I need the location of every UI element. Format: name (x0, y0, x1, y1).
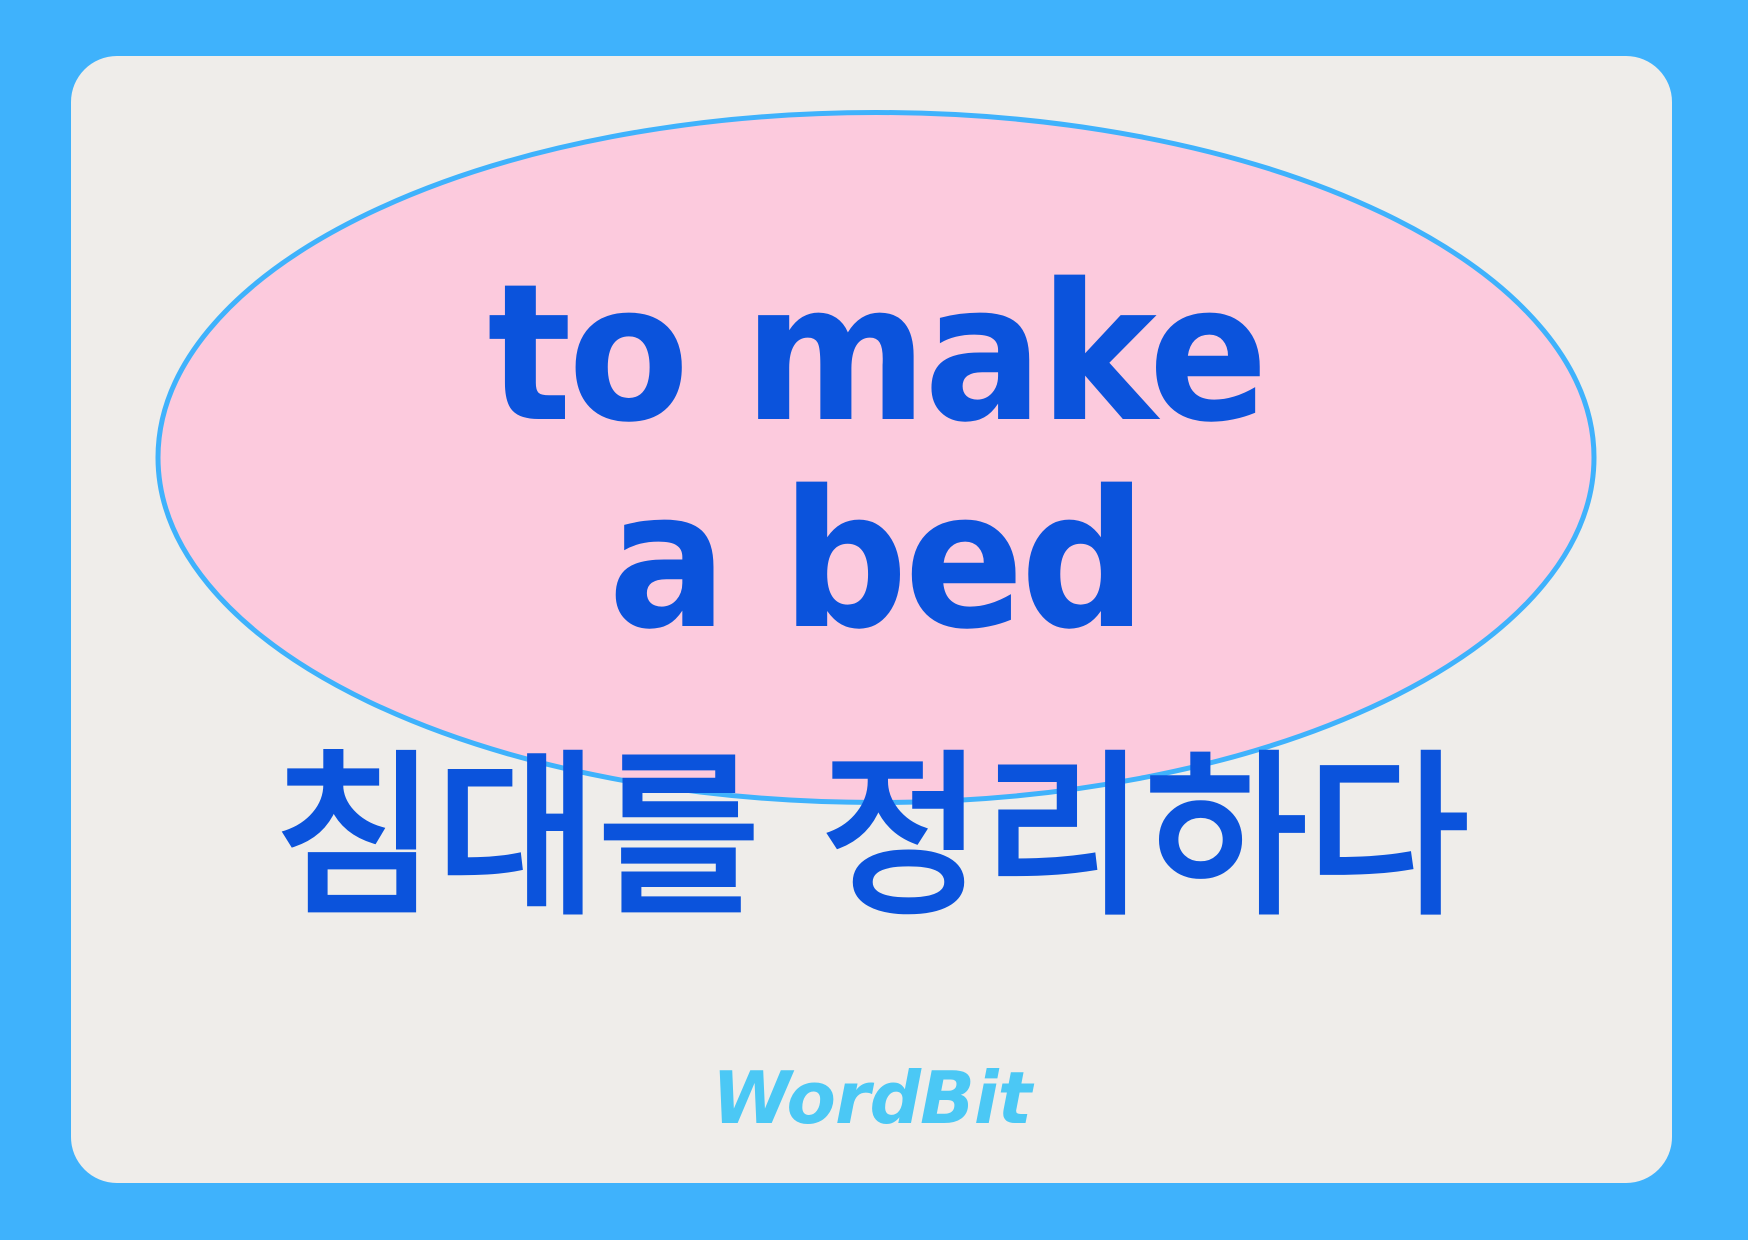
wordbit-logo: WordBit (71, 1056, 1672, 1140)
flashcard-root: to make a bed 침대를 정리하다 WordBit (0, 0, 1748, 1240)
flashcard-card: to make a bed 침대를 정리하다 WordBit (71, 56, 1672, 1183)
korean-translation: 침대를 정리하다 (71, 746, 1672, 931)
english-phrase: to make a bed (155, 110, 1597, 805)
english-phrase-line-2: a bed (609, 467, 1144, 655)
english-phrase-line-1: to make (487, 260, 1264, 448)
